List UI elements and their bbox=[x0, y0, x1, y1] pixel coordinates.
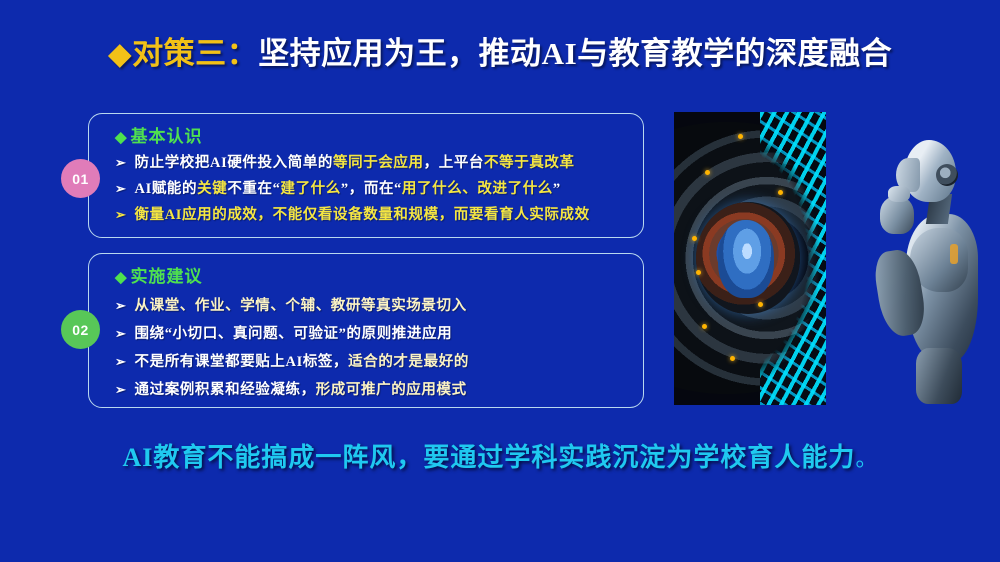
portal-light-dot bbox=[730, 356, 735, 361]
card-2-heading-label: 实施建议 bbox=[131, 267, 203, 286]
arrow-bullet-icon: ➢ bbox=[115, 320, 127, 348]
ai-face-portal-photo bbox=[674, 112, 826, 405]
line-segment: 衡量AI应用的成效，不能仅看设备数量和规模，而要看育人实际成效 bbox=[135, 202, 590, 228]
card-2-heading: ◆实施建议 bbox=[115, 262, 203, 287]
portal-pixel-pattern bbox=[760, 112, 826, 405]
line-segment: 建了什么 bbox=[280, 176, 340, 202]
card-1-heading: ◆基本认识 bbox=[115, 122, 203, 147]
robot-lower-body bbox=[916, 348, 962, 404]
portal-light-dot bbox=[778, 190, 783, 195]
line-segment: ，上平台 bbox=[424, 150, 484, 176]
line-segment: 形成可推广的应用模式 bbox=[316, 376, 467, 404]
list-item: ➢ 衡量AI应用的成效，不能仅看设备数量和规模，而要看育人实际成效 bbox=[115, 202, 633, 228]
arrow-bullet-icon: ➢ bbox=[115, 150, 127, 176]
line-segment: 不重在“ bbox=[227, 176, 280, 202]
line-segment: 关键 bbox=[197, 176, 227, 202]
portal-light-dot bbox=[696, 270, 701, 275]
title-main: 坚持应用为王，推动AI与教育教学的深度融合 bbox=[258, 36, 892, 71]
line-segment: AI赋能的 bbox=[135, 176, 198, 202]
list-item: ➢ 通过案例积累和经验凝练，形成可推广的应用模式 bbox=[115, 376, 633, 404]
card-1-lines: ➢ 防止学校把AI硬件投入简单的等同于会应用，上平台不等于真改革 ➢ AI赋能的… bbox=[115, 150, 633, 228]
bottom-statement-text: AI教育不能搞成一阵风，要通过学科实践沉淀为学校育人能力 bbox=[123, 443, 856, 472]
list-item: ➢ 围绕“小切口、真问题、可验证”的原则推进应用 bbox=[115, 320, 633, 348]
badge-02-label: 02 bbox=[72, 322, 89, 338]
arrow-bullet-icon: ➢ bbox=[115, 348, 127, 376]
robot-finger bbox=[888, 186, 910, 202]
bottom-statement-period: 。 bbox=[855, 446, 877, 471]
portal-light-dot bbox=[758, 302, 763, 307]
card-implementation-suggestions: ◆实施建议 ➢ 从课堂、作业、学情、个辅、教研等真实场景切入 ➢ 围绕“小切口、… bbox=[88, 253, 644, 408]
arrow-bullet-icon: ➢ bbox=[115, 202, 127, 228]
line-segment: ” bbox=[553, 176, 561, 202]
portal-light-dot bbox=[702, 324, 707, 329]
line-segment: 等同于会应用 bbox=[333, 150, 424, 176]
slide-canvas: ◆对策三：坚持应用为王，推动AI与教育教学的深度融合 ◆基本认识 ➢ 防止学校把… bbox=[0, 0, 1000, 562]
bottom-statement: AI教育不能搞成一阵风，要通过学科实践沉淀为学校育人能力。 bbox=[0, 437, 1000, 474]
list-item: ➢ 从课堂、作业、学情、个辅、教研等真实场景切入 bbox=[115, 292, 633, 320]
card-2-diamond-icon: ◆ bbox=[115, 269, 128, 286]
title-prefix: 对策三： bbox=[132, 36, 258, 71]
badge-02: 02 bbox=[61, 310, 100, 349]
badge-01: 01 bbox=[61, 159, 100, 198]
robot-accent-light bbox=[950, 244, 958, 264]
line-segment: 适合的才是最好的 bbox=[348, 348, 469, 376]
line-segment: 用了什么、改进了什么 bbox=[402, 176, 553, 202]
portal-light-dot bbox=[738, 134, 743, 139]
line-segment: 不是所有课堂都要贴上AI标签， bbox=[135, 348, 349, 376]
line-segment: 防止学校把AI硬件投入简单的 bbox=[135, 150, 334, 176]
line-segment: 通过案例积累和经验凝练， bbox=[135, 376, 316, 404]
list-item: ➢ 不是所有课堂都要贴上AI标签，适合的才是最好的 bbox=[115, 348, 633, 376]
badge-01-label: 01 bbox=[72, 171, 89, 187]
arrow-bullet-icon: ➢ bbox=[115, 292, 127, 320]
portal-light-dot bbox=[692, 236, 697, 241]
arrow-bullet-icon: ➢ bbox=[115, 376, 127, 404]
line-segment: 围绕“小切口、真问题、可验证”的原则推进应用 bbox=[135, 320, 453, 348]
arrow-bullet-icon: ➢ bbox=[115, 176, 127, 202]
line-segment: ”，而在“ bbox=[341, 176, 402, 202]
title-diamond-icon: ◆ bbox=[108, 36, 132, 71]
portal-light-dot bbox=[705, 170, 710, 175]
card-basic-understanding: ◆基本认识 ➢ 防止学校把AI硬件投入简单的等同于会应用，上平台不等于真改革 ➢… bbox=[88, 113, 644, 238]
line-segment: 不等于真改革 bbox=[484, 150, 575, 176]
list-item: ➢ AI赋能的关键不重在“建了什么”，而在“用了什么、改进了什么” bbox=[115, 176, 633, 202]
card-1-diamond-icon: ◆ bbox=[115, 129, 128, 146]
list-item: ➢ 防止学校把AI硬件投入简单的等同于会应用，上平台不等于真改革 bbox=[115, 150, 633, 176]
line-segment: 从课堂、作业、学情、个辅、教研等真实场景切入 bbox=[135, 292, 467, 320]
card-2-lines: ➢ 从课堂、作业、学情、个辅、教研等真实场景切入 ➢ 围绕“小切口、真问题、可验… bbox=[115, 292, 633, 404]
thinking-robot-photo bbox=[866, 140, 980, 405]
card-1-heading-label: 基本认识 bbox=[131, 127, 203, 146]
robot-ear-module bbox=[936, 164, 958, 186]
page-title: ◆对策三：坚持应用为王，推动AI与教育教学的深度融合 bbox=[0, 34, 1000, 74]
